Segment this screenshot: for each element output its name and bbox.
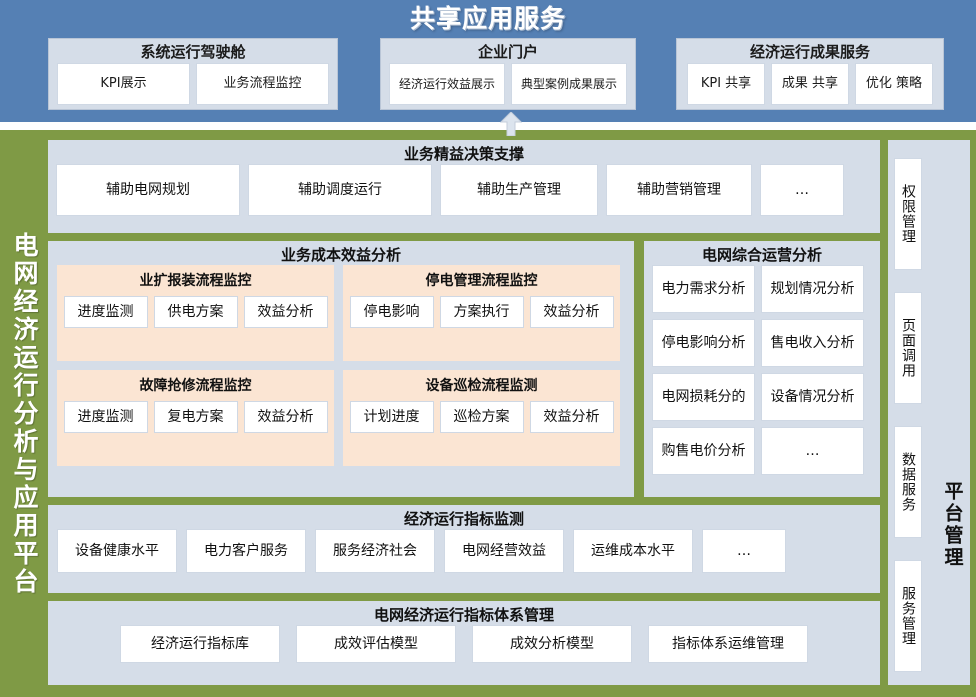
box-benefit-analysis-3[interactable]: 效益分析 [244,401,328,433]
subsection-equipment-inspection-monitoring: 设备巡检流程监测 计划进度 巡检方案 效益分析 [343,370,620,466]
subsection-title-equipment-inspection: 设备巡检流程监测 [343,373,620,401]
section-title-decision-support: 业务精益决策支撑 [48,140,880,164]
box-economic-indicator-library[interactable]: 经济运行指标库 [120,625,280,663]
box-benefit-analysis-4[interactable]: 效益分析 [530,401,614,433]
box-benefit-analysis-2[interactable]: 效益分析 [530,296,614,328]
box-production-management-support[interactable]: 辅助生产管理 [440,164,598,216]
section-economic-indicator-monitoring: 经济运行指标监测 设备健康水平 电力客户服务 服务经济社会 电网经营效益 运维成… [48,505,880,593]
box-electricity-sales-revenue-analysis[interactable]: 售电收入分析 [761,319,864,367]
section-indicator-system-management: 电网经济运行指标体系管理 经济运行指标库 成效评估模型 成效分析模型 指标体系运… [48,601,880,685]
box-indicator-system-om-management[interactable]: 指标体系运维管理 [648,625,808,663]
box-operation-more[interactable]: … [761,427,864,475]
section-title-indicator-system-management: 电网经济运行指标体系管理 [48,601,880,625]
platform-left-label: 电网经济运行分析与应用平台 [2,130,46,697]
box-decision-more[interactable]: … [760,164,844,216]
box-purchase-sale-price-analysis[interactable]: 购售电价分析 [652,427,755,475]
cell-business-process-monitoring[interactable]: 业务流程监控 [196,63,329,105]
box-equipment-situation-analysis[interactable]: 设备情况分析 [761,373,864,421]
box-progress-monitoring-1[interactable]: 进度监测 [64,296,148,328]
subsection-title-fault-repair: 故障抢修流程监控 [57,373,334,401]
page-title: 共享应用服务 [0,2,976,36]
up-arrow-icon [500,112,522,136]
group-economic-result-services[interactable]: 经济运行成果服务 KPI 共享 成果 共享 优化 策略 [676,38,944,110]
cell-economic-benefit-display[interactable]: 经济运行效益展示 [389,63,505,105]
section-title-economic-indicator-monitoring: 经济运行指标监测 [48,505,880,529]
box-plan-progress[interactable]: 计划进度 [350,401,434,433]
section-platform-management: 权限管理 页面调用 数据服务 服务管理 平台管理 [888,140,970,685]
box-grid-planning-support[interactable]: 辅助电网规划 [56,164,240,216]
box-power-customer-service[interactable]: 电力客户服务 [186,529,306,573]
box-planning-situation-analysis[interactable]: 规划情况分析 [761,265,864,313]
cell-result-sharing[interactable]: 成果 共享 [771,63,849,105]
box-dispatch-operation-support[interactable]: 辅助调度运行 [248,164,432,216]
subsection-expansion-installation-monitoring: 业扩报装流程监控 进度监测 供电方案 效益分析 [57,265,334,361]
box-grid-loss-analysis[interactable]: 电网损耗分的 [652,373,755,421]
shared-application-services-band: 共享应用服务 系统运行驾驶舱 KPI展示 业务流程监控 企业门户 经济运行效益展… [0,0,976,122]
section-title-integrated-operation-analysis: 电网综合运营分析 [644,241,880,265]
group-title-system-cockpit: 系统运行驾驶舱 [49,39,337,63]
box-permission-management[interactable]: 权限管理 [894,158,922,270]
group-title-economic-result-services: 经济运行成果服务 [677,39,943,63]
section-decision-support: 业务精益决策支撑 辅助电网规划 辅助调度运行 辅助生产管理 辅助营销管理 … [48,140,880,233]
box-progress-monitoring-2[interactable]: 进度监测 [64,401,148,433]
cell-typical-case-results[interactable]: 典型案例成果展示 [511,63,627,105]
section-cost-benefit-analysis: 业务成本效益分析 业扩报装流程监控 进度监测 供电方案 效益分析 停电管理流程监… [48,241,634,497]
group-enterprise-portal[interactable]: 企业门户 经济运行效益展示 典型案例成果展示 [380,38,636,110]
group-system-cockpit[interactable]: 系统运行驾驶舱 KPI展示 业务流程监控 [48,38,338,110]
platform-management-label: 平台管理 [940,470,966,580]
box-inspection-plan[interactable]: 巡检方案 [440,401,524,433]
subsection-outage-management-monitoring: 停电管理流程监控 停电影响 方案执行 效益分析 [343,265,620,361]
box-effectiveness-evaluation-model[interactable]: 成效评估模型 [296,625,456,663]
box-equipment-health-level[interactable]: 设备健康水平 [57,529,177,573]
section-title-cost-benefit-analysis: 业务成本效益分析 [48,241,634,265]
box-power-demand-analysis[interactable]: 电力需求分析 [652,265,755,313]
group-title-enterprise-portal: 企业门户 [381,39,635,63]
box-plan-execution[interactable]: 方案执行 [440,296,524,328]
cell-optimization-strategy[interactable]: 优化 策略 [855,63,933,105]
box-data-service[interactable]: 数据服务 [894,426,922,538]
section-integrated-operation-analysis: 电网综合运营分析 电力需求分析 规划情况分析 停电影响分析 售电收入分析 电网损… [644,241,880,497]
cell-kpi-display[interactable]: KPI展示 [57,63,190,105]
subsection-fault-repair-monitoring: 故障抢修流程监控 进度监测 复电方案 效益分析 [57,370,334,466]
box-serving-economy-society[interactable]: 服务经济社会 [315,529,435,573]
architecture-diagram: 共享应用服务 系统运行驾驶舱 KPI展示 业务流程监控 企业门户 经济运行效益展… [0,0,976,697]
cell-kpi-sharing[interactable]: KPI 共享 [687,63,765,105]
subsection-title-outage-management: 停电管理流程监控 [343,268,620,296]
box-page-invocation[interactable]: 页面调用 [894,292,922,404]
box-marketing-management-support[interactable]: 辅助营销管理 [606,164,752,216]
box-restoration-plan[interactable]: 复电方案 [154,401,238,433]
box-benefit-analysis-1[interactable]: 效益分析 [244,296,328,328]
box-outage-impact[interactable]: 停电影响 [350,296,434,328]
box-monitor-more[interactable]: … [702,529,786,573]
box-om-cost-level[interactable]: 运维成本水平 [573,529,693,573]
box-power-supply-plan[interactable]: 供电方案 [154,296,238,328]
box-outage-impact-analysis[interactable]: 停电影响分析 [652,319,755,367]
box-effectiveness-analysis-model[interactable]: 成效分析模型 [472,625,632,663]
box-grid-operating-benefit[interactable]: 电网经营效益 [444,529,564,573]
subsection-title-expansion-installation: 业扩报装流程监控 [57,268,334,296]
box-service-management[interactable]: 服务管理 [894,560,922,672]
